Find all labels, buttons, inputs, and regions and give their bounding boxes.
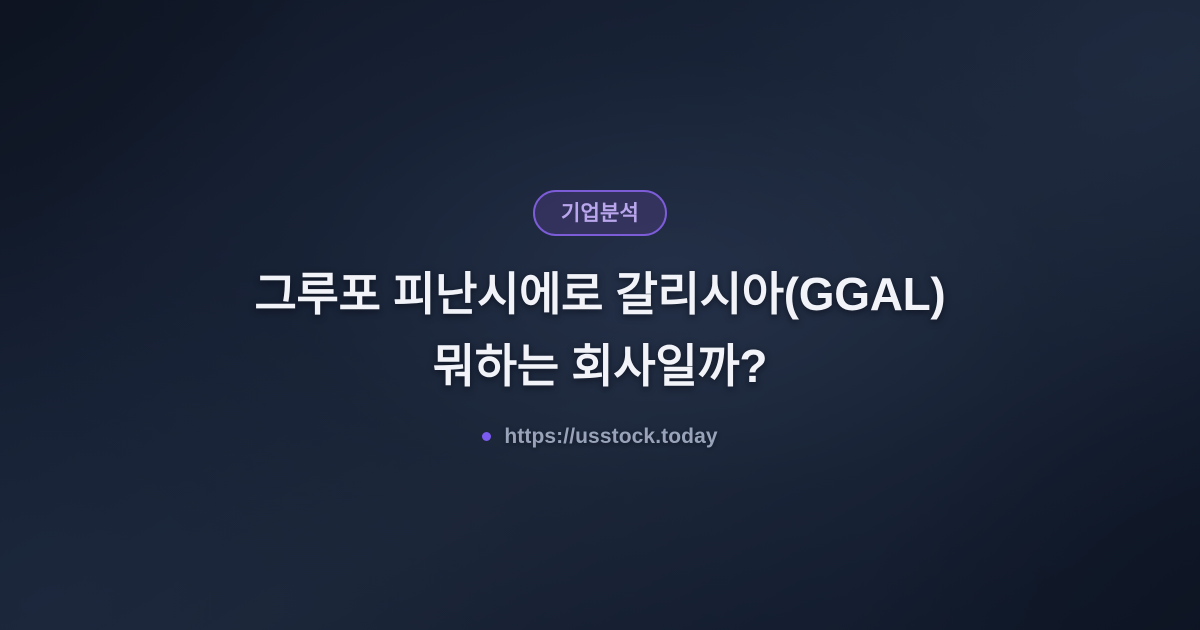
site-url-row: https://usstock.today <box>482 426 717 447</box>
page-title-line-2: 뭐하는 회사일까? <box>255 330 946 402</box>
page-title-line-1: 그루포 피난시에로 갈리시아(GGAL) <box>255 258 946 330</box>
page-title: 그루포 피난시에로 갈리시아(GGAL) 뭐하는 회사일까? <box>215 258 986 402</box>
og-share-card: 기업분석 그루포 피난시에로 갈리시아(GGAL) 뭐하는 회사일까? http… <box>0 0 1200 630</box>
site-url-label: https://usstock.today <box>504 426 717 447</box>
card-content: 기업분석 그루포 피난시에로 갈리시아(GGAL) 뭐하는 회사일까? http… <box>0 0 1200 447</box>
category-badge: 기업분석 <box>533 190 667 236</box>
bullet-dot-icon <box>482 432 491 441</box>
